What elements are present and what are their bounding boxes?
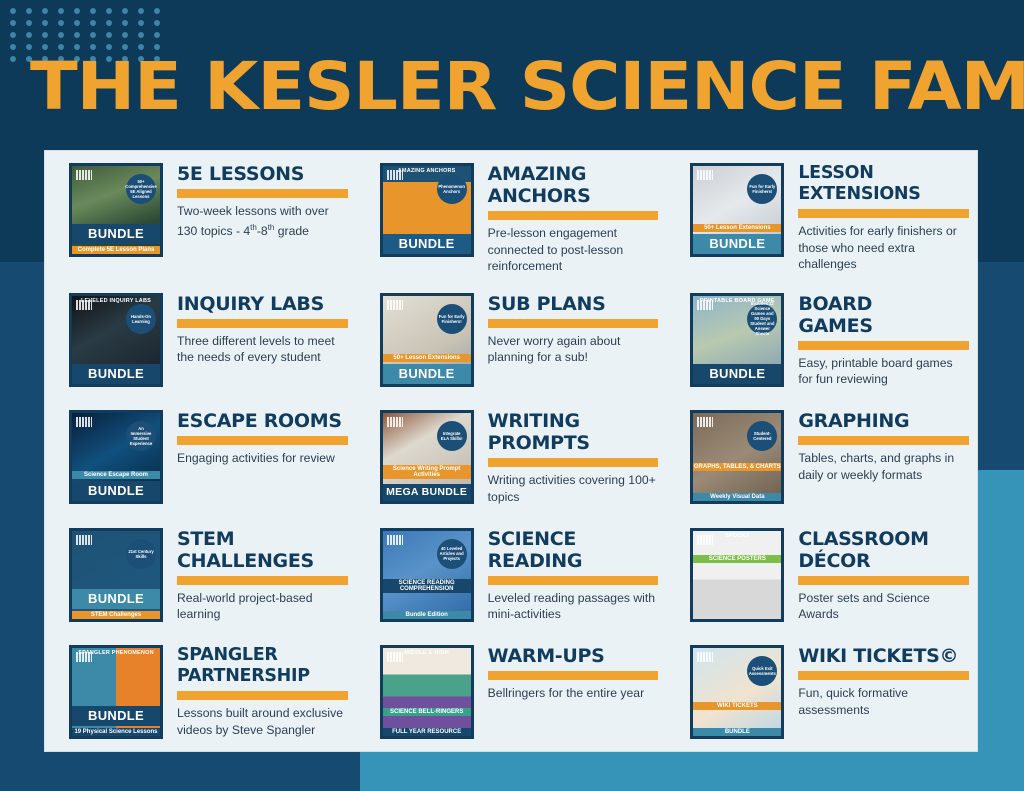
product-text-block: SPANGLERPARTNERSHIPLessons built around … [163,639,348,738]
dot [58,20,64,26]
kesler-science-logo-icon [76,652,92,662]
thumbnail-bundle-label: BUNDLE [72,364,160,384]
product-description: Two-week lessons with over 130 topics - … [177,203,348,239]
product-title-line: WARM-UPS [488,645,659,667]
dot [26,32,32,38]
thumbnail-badge: 50+ Comprehensive 5E Aligned Lessons [126,174,156,204]
product-title-line: STEM [177,528,348,550]
thumbnail-bundle-label: BUNDLE [693,234,781,254]
thumbnail-bundle-label: BUNDLE [72,224,160,244]
product-thumbnail: 40 Leveled Articles and ProjectsSCIENCE … [380,528,474,622]
thumbnail-badge: Includes 12 Science Games and 90 Days St… [747,304,777,334]
thumbnail-strip-label: SCIENCE POSTERS [693,555,781,563]
title-underline-bar [177,189,348,198]
dot [10,32,16,38]
dot [10,56,16,62]
product-text-block: AMAZINGANCHORSPre-lesson engagement conn… [474,157,659,275]
product-text-block: GRAPHINGTables, charts, and graphs in da… [784,404,969,483]
product-description: Real-world project-based learning [177,590,348,623]
kesler-science-logo-icon [76,300,92,310]
product-thumbnail: Amazing AnchorsPhenomenon AnchorsBUNDLE [380,163,474,257]
product-card[interactable]: Quick Exit AssessmentsWIKI TICKETSBUNDLE… [666,633,977,751]
title-underline-bar [177,436,348,445]
product-description: Writing activities covering 100+ topics [488,472,659,505]
title-underline-bar [798,576,969,585]
product-title-line: READING [488,550,659,572]
kesler-science-logo-icon [697,535,713,545]
product-thumbnail: SPOOKYSCIENCE POSTERS [690,528,784,622]
dot [74,20,80,26]
product-card[interactable]: Student-CenteredGRAPHS, TABLES, & CHARTS… [666,398,977,516]
kesler-science-logo-icon [76,535,92,545]
product-thumbnail: 50+ Comprehensive 5E Aligned LessonsComp… [69,163,163,257]
kesler-science-logo-icon [697,170,713,180]
product-card[interactable]: Fun for Early Finishers!50+ Lesson Exten… [356,281,667,399]
kesler-science-logo-icon [387,535,403,545]
product-thumbnail: Fun for Early Finishers!50+ Lesson Exten… [380,293,474,387]
thumbnail-badge: 40 Leveled Articles and Projects [437,539,467,569]
page-title: THE KESLER SCIENCE FAMILY [30,52,1024,122]
thumbnail-sub-label: Weekly Visual Data [693,493,781,501]
title-underline-bar [488,211,659,220]
thumbnail-strip-label: SCIENCE BELL-RINGERS [383,708,471,716]
dot [42,20,48,26]
product-card[interactable]: Integrate ELA Skills!Science Writing Pro… [356,398,667,516]
dot [154,20,160,26]
thumbnail-bundle-label: MEGA BUNDLE [383,484,471,501]
dot [90,8,96,14]
dot [42,8,48,14]
product-title-line: SPANGLER [177,645,348,666]
product-text-block: ESCAPE ROOMSEngaging activities for revi… [163,404,348,467]
dot [10,20,16,26]
thumbnail-sub-label: BUNDLE [693,728,781,736]
product-title: SUB PLANS [488,293,659,315]
kesler-science-logo-icon [76,170,92,180]
thumbnail-badge: Fun for Early Finishers! [437,304,467,334]
product-title: 5E LESSONS [177,163,348,185]
title-underline-bar [488,458,659,467]
product-title-line: INQUIRY LABS [177,293,348,315]
thumbnail-badge: An Immersive Student Experience [126,421,156,451]
title-underline-bar [798,671,969,680]
product-text-block: SUB PLANSNever worry again about plannin… [474,287,659,366]
product-card[interactable]: Leveled Inquiry LabsHands-On LearningBUN… [45,281,356,399]
product-description: Three different levels to meet the needs… [177,333,348,366]
product-title: STEMCHALLENGES [177,528,348,572]
product-text-block: 5E LESSONSTwo-week lessons with over 130… [163,157,348,239]
product-card[interactable]: 21st Century SkillsSTEM ChallengesBUNDLE… [45,516,356,634]
title-underline-bar [177,691,348,700]
product-card[interactable]: Amazing AnchorsPhenomenon AnchorsBUNDLEA… [356,151,667,281]
thumbnail-sub-label: FULL YEAR RESOURCE [383,728,471,736]
dot [58,8,64,14]
product-title-line: CLASSROOM [798,528,969,550]
product-thumbnail: PRINTABLE BOARD GAMEIncludes 12 Science … [690,293,784,387]
thumbnail-badge: Hands-On Learning [126,304,156,334]
product-title: AMAZINGANCHORS [488,163,659,207]
dot [90,32,96,38]
title-underline-bar [177,319,348,328]
kesler-science-logo-icon [387,300,403,310]
product-card[interactable]: PRINTABLE BOARD GAMEIncludes 12 Science … [666,281,977,399]
product-thumbnail: Fun for Early Finishers!50+ Lesson Exten… [690,163,784,257]
thumbnail-strip-label: WIKI TICKETS [693,702,781,710]
dot [74,8,80,14]
thumbnail-sub-label: 19 Physical Science Lessons [72,728,160,736]
thumbnail-badge: 21st Century Skills [126,539,156,569]
dot [10,44,16,50]
product-title-line: GRAPHING [798,410,969,432]
thumbnail-sub-label: Bundle Edition [383,611,471,619]
product-card[interactable]: Fun for Early Finishers!50+ Lesson Exten… [666,151,977,281]
thumbnail-bundle-label: BUNDLE [693,364,781,384]
product-thumbnail: An Immersive Student ExperienceScience E… [69,410,163,504]
product-title: LESSONEXTENSIONS [798,163,969,205]
product-text-block: WRITINGPROMPTSWriting activities coverin… [474,404,659,505]
product-title-line: 5E LESSONS [177,163,348,185]
thumbnail-badge: Integrate ELA Skills! [437,421,467,451]
product-title: CLASSROOMDÉCOR [798,528,969,572]
product-description: Tables, charts, and graphs in daily or w… [798,450,969,483]
dot [106,8,112,14]
product-text-block: STEMCHALLENGESReal-world project-based l… [163,522,348,623]
kesler-science-logo-icon [697,300,713,310]
product-title: SCIENCEREADING [488,528,659,572]
kesler-science-logo-icon [387,170,403,180]
title-underline-bar [798,341,969,350]
product-title: GRAPHING [798,410,969,432]
product-title-line: WRITING [488,410,659,432]
product-title: SPANGLERPARTNERSHIP [177,645,348,687]
dot [74,32,80,38]
product-title-line: GAMES [798,315,969,337]
product-text-block: WARM-UPSBellringers for the entire year [474,639,659,702]
product-title: WIKI TICKETS© [798,645,969,667]
product-card[interactable]: SPANGLER PHENOMENON19 Physical Science L… [45,633,356,751]
product-title: INQUIRY LABS [177,293,348,315]
dot [138,20,144,26]
dot [26,20,32,26]
product-text-block: WIKI TICKETS©Fun, quick formative assess… [784,639,969,718]
product-description: Easy, printable board games for fun revi… [798,355,969,388]
kesler-science-logo-icon [76,417,92,427]
dot [106,32,112,38]
product-card[interactable]: An Immersive Student ExperienceScience E… [45,398,356,516]
product-title-line: EXTENSIONS [798,184,969,205]
dot [122,20,128,26]
product-title-line: SCIENCE [488,528,659,550]
dot [26,8,32,14]
thumbnail-strip-label: SCIENCE READING COMPREHENSION [383,579,471,593]
product-text-block: CLASSROOMDÉCORPoster sets and Science Aw… [784,522,969,623]
dot [106,20,112,26]
kesler-science-logo-icon [387,652,403,662]
product-thumbnail: Quick Exit AssessmentsWIKI TICKETSBUNDLE [690,645,784,739]
product-text-block: INQUIRY LABSThree different levels to me… [163,287,348,366]
dot [58,32,64,38]
title-underline-bar [177,576,348,585]
thumbnail-bundle-label: BUNDLE [72,481,160,501]
dot [138,32,144,38]
thumbnail-strip-label: GRAPHS, TABLES, & CHARTS [693,463,781,471]
product-thumbnail: 21st Century SkillsSTEM ChallengesBUNDLE [69,528,163,622]
product-card[interactable]: 50+ Comprehensive 5E Aligned LessonsComp… [45,151,356,281]
kesler-science-logo-icon [697,417,713,427]
product-description: Never worry again about planning for a s… [488,333,659,366]
title-underline-bar [798,209,969,218]
title-underline-bar [488,319,659,328]
product-description: Pre-lesson engagement connected to post-… [488,225,659,275]
product-text-block: SCIENCEREADINGLeveled reading passages w… [474,522,659,623]
product-title: WARM-UPS [488,645,659,667]
product-thumbnail: SPANGLER PHENOMENON19 Physical Science L… [69,645,163,739]
dot [122,32,128,38]
product-text-block: LESSONEXTENSIONSActivities for early fin… [784,157,969,273]
product-card[interactable]: SPOOKYSCIENCE POSTERSCLASSROOMDÉCORPoste… [666,516,977,634]
dot [138,8,144,14]
poster: THE KESLER SCIENCE FAMILY 50+ Comprehens… [0,0,1024,791]
product-description: Activities for early finishers or those … [798,223,969,273]
product-thumbnail: Integrate ELA Skills!Science Writing Pro… [380,410,474,504]
product-description: Engaging activities for review [177,450,348,467]
thumbnail-badge: Phenomenon Anchors [437,174,467,204]
product-title-line: SUB PLANS [488,293,659,315]
product-card[interactable]: 40 Leveled Articles and ProjectsSCIENCE … [356,516,667,634]
product-title-line: ANCHORS [488,185,659,207]
product-title-line: ESCAPE ROOMS [177,410,348,432]
product-card-grid: 50+ Comprehensive 5E Aligned LessonsComp… [45,151,977,751]
title-underline-bar [488,671,659,680]
kesler-science-logo-icon [387,417,403,427]
product-text-block: BOARDGAMESEasy, printable board games fo… [784,287,969,388]
thumbnail-strip-label: Science Writing Prompt Activities [383,465,471,479]
kesler-science-logo-icon [697,652,713,662]
dot [122,8,128,14]
thumbnail-bundle-label: BUNDLE [72,706,160,726]
dot [42,32,48,38]
thumbnail-bundle-label: BUNDLE [72,589,160,609]
title-underline-bar [798,436,969,445]
thumbnail-strip-label: 50+ Lesson Extensions [383,354,471,362]
title-underline-bar [488,576,659,585]
product-description: Bellringers for the entire year [488,685,659,702]
product-title: BOARDGAMES [798,293,969,337]
product-thumbnail: Leveled Inquiry LabsHands-On LearningBUN… [69,293,163,387]
thumbnail-strip-label: Science Escape Room [72,471,160,479]
product-card[interactable]: MIDDLE & HIGHSCIENCE BELL-RINGERSFULL YE… [356,633,667,751]
content-panel: 50+ Comprehensive 5E Aligned LessonsComp… [44,150,978,752]
product-description: Fun, quick formative assessments [798,685,969,718]
dot [10,8,16,14]
product-title-line: PARTNERSHIP [177,666,348,687]
dot [154,32,160,38]
thumbnail-sub-label: STEM Challenges [72,611,160,619]
product-title-line: AMAZING [488,163,659,185]
product-description: Leveled reading passages with mini-activ… [488,590,659,623]
product-thumbnail: Student-CenteredGRAPHS, TABLES, & CHARTS… [690,410,784,504]
thumbnail-bundle-label: BUNDLE [383,234,471,254]
dot [154,8,160,14]
product-description: Poster sets and Science Awards [798,590,969,623]
product-title-line: DÉCOR [798,550,969,572]
product-title-line: WIKI TICKETS© [798,645,969,667]
product-description: Lessons built around exclusive videos by… [177,705,348,738]
dot [90,20,96,26]
thumbnail-bundle-label: BUNDLE [383,364,471,384]
thumbnail-sub-label: Complete 5E Lesson Plans [72,246,160,254]
thumbnail-strip-label: 50+ Lesson Extensions [693,224,781,232]
product-title-line: BOARD [798,293,969,315]
product-title-line: LESSON [798,163,969,184]
product-title-line: PROMPTS [488,432,659,454]
product-title: ESCAPE ROOMS [177,410,348,432]
product-title: WRITINGPROMPTS [488,410,659,454]
product-title-line: CHALLENGES [177,550,348,572]
product-thumbnail: MIDDLE & HIGHSCIENCE BELL-RINGERSFULL YE… [380,645,474,739]
